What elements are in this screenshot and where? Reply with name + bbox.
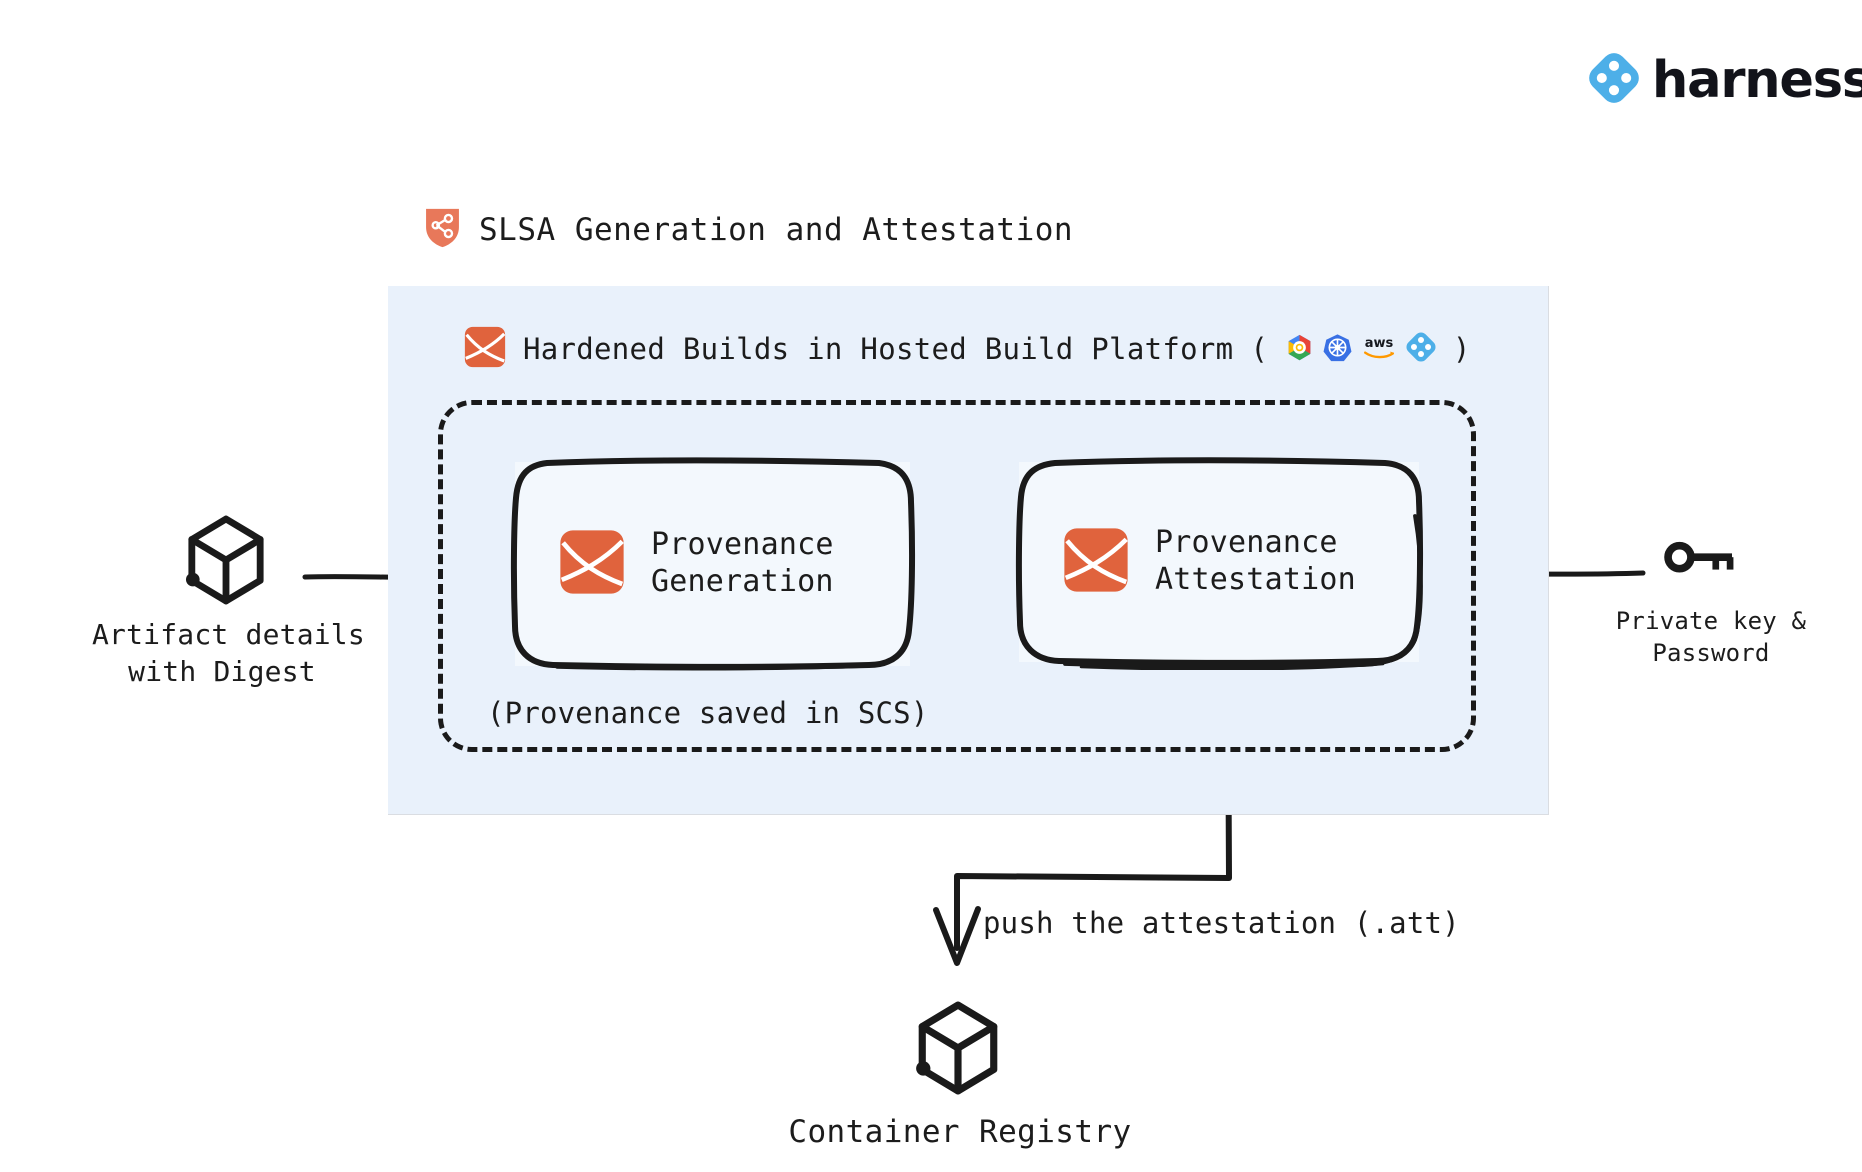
kubernetes-icon: [1323, 333, 1352, 366]
harness-brand-logo: harness: [1588, 52, 1862, 108]
harness-wordmark: harness: [1652, 55, 1862, 106]
aws-icon: aws: [1361, 334, 1397, 364]
push-attestation-label: push the attestation (.att): [983, 906, 1460, 940]
close-paren: ): [1453, 332, 1470, 366]
scs-caption: (Provenance saved in SCS): [487, 696, 929, 730]
harness-diamond-icon: [1588, 52, 1640, 108]
platform-icon-group: aws: [1285, 332, 1436, 366]
diagram-canvas: harness SLSA Generation and Attestation: [0, 0, 1862, 1172]
cube-icon: [185, 514, 267, 610]
harness-logo-icon: [1063, 527, 1129, 597]
page-title: SLSA Generation and Attestation: [479, 212, 1073, 248]
provenance-attestation-box[interactable]: Provenance Attestation: [1019, 462, 1419, 662]
private-key-label: Private key & Password: [1611, 605, 1811, 670]
svg-text:aws: aws: [1365, 336, 1394, 351]
open-paren: (: [1250, 332, 1267, 366]
google-cloud-icon: [1285, 333, 1314, 366]
slsa-shield-icon: [424, 207, 461, 253]
section-title: SLSA Generation and Attestation: [424, 207, 1073, 253]
panel-header-label: Hardened Builds in Hosted Build Platform: [523, 332, 1233, 366]
provenance-generation-box[interactable]: Provenance Generation: [515, 462, 910, 666]
harness-diamond-icon: [1406, 332, 1436, 366]
key-icon: [1663, 540, 1738, 586]
artifact-label: Artifact details with Digest: [92, 617, 352, 691]
container-registry-label: Container Registry: [760, 1114, 1160, 1150]
provenance-attestation-label: Provenance Attestation: [1155, 525, 1356, 598]
harness-logo-icon: [464, 326, 506, 372]
provenance-generation-label: Provenance Generation: [651, 527, 834, 600]
harness-logo-icon: [559, 529, 625, 599]
cube-icon: [915, 1000, 1001, 1100]
panel-header: Hardened Builds in Hosted Build Platform…: [464, 326, 1470, 372]
